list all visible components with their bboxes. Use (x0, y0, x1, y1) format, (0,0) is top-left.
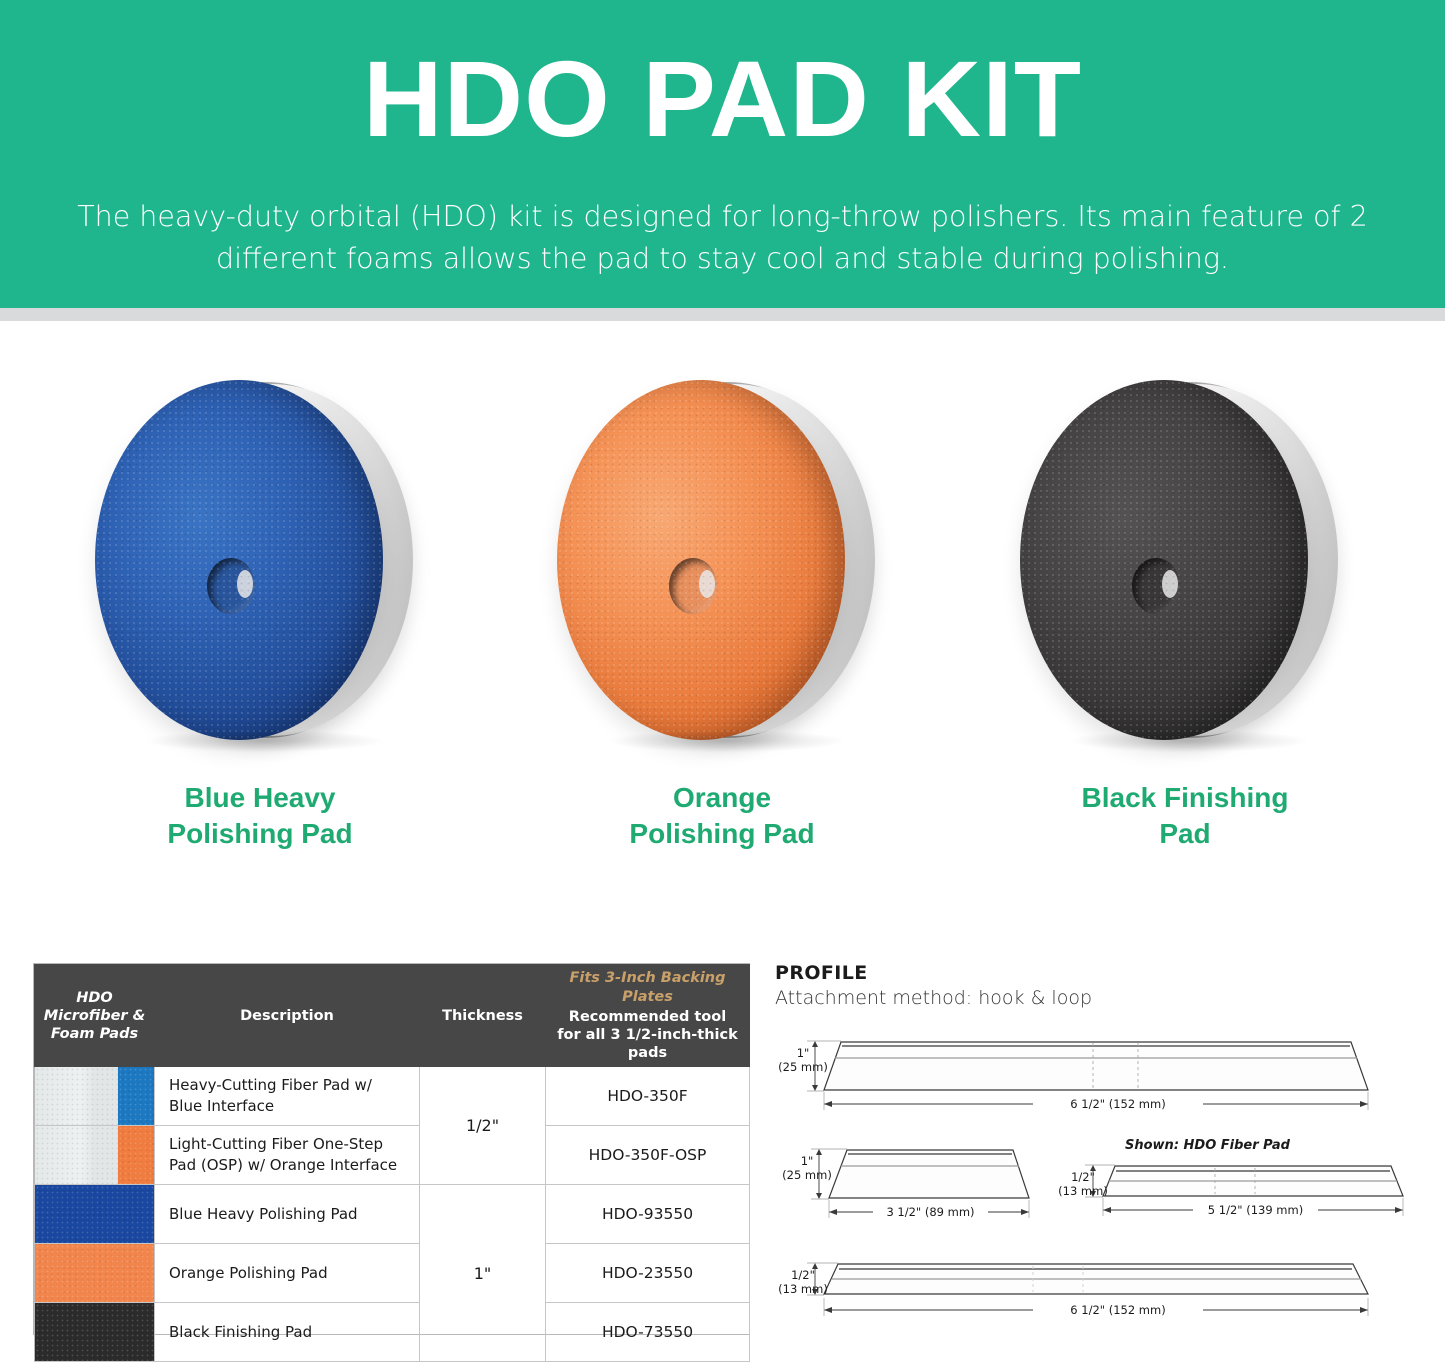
cell-description: Black Finishing Pad (155, 1303, 420, 1362)
swatch-orange-foam (35, 1244, 154, 1302)
swatch-fiber-blue (35, 1067, 155, 1126)
profile-diagram-3: Shown: HDO Fiber Pad 1/2" (13 mm) 5 1/2"… (1085, 1140, 1435, 1250)
pad-showcase: Blue Heavy Polishing Pad Orange Polishin… (0, 330, 1445, 890)
pad-card-black: Black Finishing Pad (955, 330, 1415, 890)
pad-label-line2: Polishing Pad (167, 818, 352, 849)
pad-label-orange: Orange Polishing Pad (492, 780, 952, 852)
drop-shadow (1072, 730, 1307, 752)
dim-width-2: 3 1/2" (89 mm) (873, 1205, 988, 1219)
table-row: Heavy-Cutting Fiber Pad w/ Blue Interfac… (35, 1067, 750, 1126)
page-title: HDO PAD KIT (0, 44, 1445, 154)
page-subtitle: The heavy-duty orbital (HDO) kit is desi… (55, 196, 1390, 280)
dim-height-2-l2: (25 mm) (782, 1168, 832, 1182)
swatch-solid-orange (35, 1244, 155, 1303)
dim-height-1-l2: (25 mm) (778, 1060, 828, 1074)
pad-label-line1: Orange (673, 782, 771, 813)
col-header-tool-accent: Fits 3-Inch Backing Plates (552, 969, 743, 1007)
center-hole (669, 558, 717, 614)
dim-width-4: 6 1/2" (152 mm) (1038, 1303, 1198, 1317)
swatch-black-foam (35, 1303, 154, 1361)
cell-thickness: 1/2" (420, 1067, 546, 1185)
description-line2: Pad (OSP) w/ Orange Interface (169, 1156, 397, 1174)
cell-tool: HDO-23550 (546, 1244, 750, 1303)
profile-svg-4 (783, 1250, 1433, 1340)
description-line1: Black Finishing Pad (169, 1323, 312, 1341)
profile-panel: PROFILE Attachment method: hook & loop (775, 962, 1435, 1337)
profile-subtitle: Attachment method: hook & loop (775, 987, 1092, 1009)
center-hole (1132, 558, 1180, 614)
dim-height-3: 1/2" (13 mm) (1055, 1170, 1111, 1198)
col-header-swatch-l1: HDO (76, 990, 113, 1006)
pad-label-line1: Black Finishing (1082, 782, 1289, 813)
orange-pad-image (557, 358, 887, 758)
spec-table: HDO Microfiber & Foam Pads Description T… (33, 963, 750, 1335)
col-header-tool-l1: Recommended tool (552, 1008, 743, 1026)
drop-shadow (147, 730, 382, 752)
cell-description: Orange Polishing Pad (155, 1244, 420, 1303)
cell-tool: HDO-350F (546, 1067, 750, 1126)
swatch-fiber-part (35, 1126, 118, 1184)
cell-tool: HDO-73550 (546, 1303, 750, 1362)
pad-label-black: Black Finishing Pad (955, 780, 1415, 852)
description-line1: Blue Heavy Polishing Pad (169, 1205, 358, 1223)
col-header-tool: Fits 3-Inch Backing Plates Recommended t… (546, 965, 750, 1067)
dim-height-4-l2: (13 mm) (778, 1282, 828, 1296)
description-line1: Heavy-Cutting Fiber Pad w/ (169, 1076, 372, 1094)
description-line1: Orange Polishing Pad (169, 1264, 328, 1282)
pad-card-orange: Orange Polishing Pad (492, 330, 952, 890)
foam-face (557, 380, 845, 740)
drop-shadow (609, 730, 844, 752)
cell-description: Blue Heavy Polishing Pad (155, 1185, 420, 1244)
description-line2: Blue Interface (169, 1097, 274, 1115)
col-header-thickness: Thickness (420, 965, 546, 1067)
profile-svg-3 (1085, 1140, 1435, 1250)
swatch-solid-black (35, 1303, 155, 1362)
cell-tool: HDO-93550 (546, 1185, 750, 1244)
table-header-row: HDO Microfiber & Foam Pads Description T… (35, 965, 750, 1067)
pad-spec-table: HDO Microfiber & Foam Pads Description T… (34, 964, 750, 1362)
pad-label-line1: Blue Heavy (185, 782, 336, 813)
foam-face (1020, 380, 1308, 740)
cell-thickness: 1" (420, 1185, 546, 1362)
profile-diagram-4: 1/2" (13 mm) 6 1/2" (152 mm) (783, 1250, 1433, 1340)
table-row: Light-Cutting Fiber One-Step Pad (OSP) w… (35, 1126, 750, 1185)
dim-height-2-l1: 1" (801, 1154, 814, 1168)
swatch-fiber-part (35, 1067, 118, 1125)
table-row: Black Finishing Pad HDO-73550 (35, 1303, 750, 1362)
swatch-graphic (35, 1185, 154, 1243)
dim-height-1-l1: 1" (797, 1046, 810, 1060)
description-line1: Light-Cutting Fiber One-Step (169, 1135, 383, 1153)
pad-label-blue: Blue Heavy Polishing Pad (30, 780, 490, 852)
col-header-description: Description (155, 965, 420, 1067)
dim-width-3: 5 1/2" (139 mm) (1193, 1203, 1318, 1217)
table-row: Blue Heavy Polishing Pad 1" HDO-93550 (35, 1185, 750, 1244)
dim-height-3-l2: (13 mm) (1058, 1184, 1108, 1198)
dim-height-3-l1: 1/2" (1071, 1170, 1095, 1184)
cell-tool: HDO-350F-OSP (546, 1126, 750, 1185)
dim-height-4-l1: 1/2" (791, 1268, 815, 1282)
cell-description: Heavy-Cutting Fiber Pad w/ Blue Interfac… (155, 1067, 420, 1126)
dim-width-1: 6 1/2" (152 mm) (1038, 1097, 1198, 1111)
swatch-blue-interface (118, 1067, 154, 1125)
foam-face (95, 380, 383, 740)
swatch-graphic (35, 1303, 154, 1361)
dim-height-4: 1/2" (13 mm) (775, 1268, 831, 1296)
shown-note: Shown: HDO Fiber Pad (1125, 1138, 1290, 1153)
hero-divider (0, 308, 1445, 321)
table-row: Orange Polishing Pad HDO-23550 (35, 1244, 750, 1303)
profile-diagram-1: 1" (25 mm) 6 1/2" (152 mm) (783, 1024, 1433, 1134)
dim-height-1: 1" (25 mm) (775, 1046, 831, 1074)
profile-svg-1 (783, 1024, 1433, 1134)
swatch-fiber-orange (35, 1126, 155, 1185)
swatch-graphic (35, 1126, 154, 1184)
dim-height-2: 1" (25 mm) (779, 1154, 835, 1182)
swatch-graphic (35, 1244, 154, 1302)
black-pad-image (1020, 358, 1350, 758)
swatch-blue-foam (35, 1185, 154, 1243)
profile-diagram-2: 1" (25 mm) 3 1/2" (89 mm) (783, 1140, 1083, 1250)
hero-banner: HDO PAD KIT The heavy-duty orbital (HDO)… (0, 0, 1445, 308)
pad-label-line2: Polishing Pad (629, 818, 814, 849)
cell-description: Light-Cutting Fiber One-Step Pad (OSP) w… (155, 1126, 420, 1185)
pad-card-blue: Blue Heavy Polishing Pad (30, 330, 490, 890)
col-header-tool-l2: for all 3 1/2-inch-thick pads (552, 1026, 743, 1062)
swatch-orange-interface (118, 1126, 154, 1184)
col-header-swatch-l2: Microfiber & (44, 1008, 146, 1024)
col-header-swatch-l3: Foam Pads (51, 1026, 138, 1042)
swatch-graphic (35, 1067, 154, 1125)
center-hole (207, 558, 255, 614)
profile-title: PROFILE (775, 962, 868, 984)
swatch-solid-blue (35, 1185, 155, 1244)
blue-pad-image (95, 358, 425, 758)
pad-label-line2: Pad (1159, 818, 1210, 849)
col-header-swatch: HDO Microfiber & Foam Pads (35, 965, 155, 1067)
